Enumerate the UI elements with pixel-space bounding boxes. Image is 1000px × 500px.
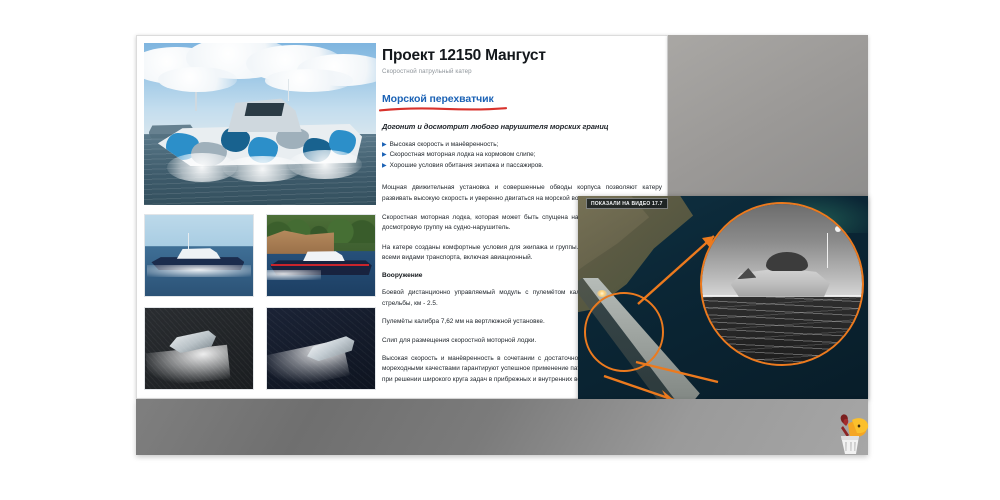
tagline: Догонит и досмотрит любого нарушителя мо…: [382, 122, 662, 131]
duck-mascot-icon: [828, 410, 870, 456]
triangle-bullet-icon: ▶: [382, 150, 387, 160]
list-item-label: Высокая скорость и манёвренность;: [390, 140, 499, 150]
satellite-overlay-image: ПОКАЗАЛИ НА ВИДЕО 17.7: [578, 196, 868, 400]
bow-spray: [288, 150, 362, 179]
mast-icon: [188, 233, 189, 249]
mast-icon: [288, 79, 290, 102]
screenshot-stage: Проект 12150 Мангуст Скоростной патрульн…: [0, 0, 1000, 500]
thermal-craft-superstructure: [766, 252, 808, 271]
boat-hull-shape: [168, 329, 218, 355]
bottom-gray-band: [136, 399, 868, 455]
boat-hull-shape: [304, 335, 357, 364]
thermal-sea: [702, 297, 862, 364]
wake-spray: [147, 265, 251, 276]
lead-link-wrapper: Морской перехватчик: [382, 89, 494, 107]
triangle-bullet-icon: ▶: [382, 161, 387, 171]
video-badge: ПОКАЗАЛИ НА ВИДЕО 17.7: [586, 198, 668, 209]
red-underline-annotation: [379, 106, 507, 112]
triangle-bullet-icon: ▶: [382, 140, 387, 150]
boat-deck-shape: [173, 247, 221, 258]
thumbnail-aerial-blue-water[interactable]: [266, 307, 376, 390]
cloud-shape: [265, 69, 353, 92]
thumbnail-patrol-boat-sea[interactable]: [144, 214, 254, 297]
page-title: Проект 12150 Мангуст: [382, 47, 662, 65]
magnifier-detail-circle: [700, 202, 864, 366]
list-item: ▶ Хорошие условия обитания экипажа и пас…: [382, 161, 662, 171]
thumbnail-coast-guard-shore[interactable]: [266, 214, 376, 297]
list-item-label: Скоростная моторная лодка на кормовом сл…: [390, 150, 536, 160]
hull-stripe: [271, 264, 368, 266]
thumbnail-gallery: [144, 214, 376, 392]
list-item-label: Хорошие условия обитания экипажа и пасса…: [390, 161, 544, 171]
wake-spray: [266, 339, 350, 390]
mast-icon: [195, 92, 197, 111]
cloud-shape: [158, 67, 237, 91]
bridge-window: [245, 103, 285, 116]
magnifier-source-circle: [584, 292, 664, 372]
feature-bullet-list: ▶ Высокая скорость и манёвренность; ▶ Ск…: [382, 140, 662, 171]
thermal-antenna: [827, 233, 829, 268]
wake-spray: [267, 270, 321, 280]
page-subtitle: Скоростной патрульный катер: [382, 68, 662, 75]
list-item: ▶ Высокая скорость и манёвренность;: [382, 140, 662, 150]
list-item: ▶ Скоростная моторная лодка на кормовом …: [382, 150, 662, 160]
thumbnail-aerial-dark-water[interactable]: [144, 307, 254, 390]
wake-spray: [146, 344, 231, 386]
hero-photo: [144, 43, 376, 205]
lead-link[interactable]: Морской перехватчик: [382, 93, 494, 105]
